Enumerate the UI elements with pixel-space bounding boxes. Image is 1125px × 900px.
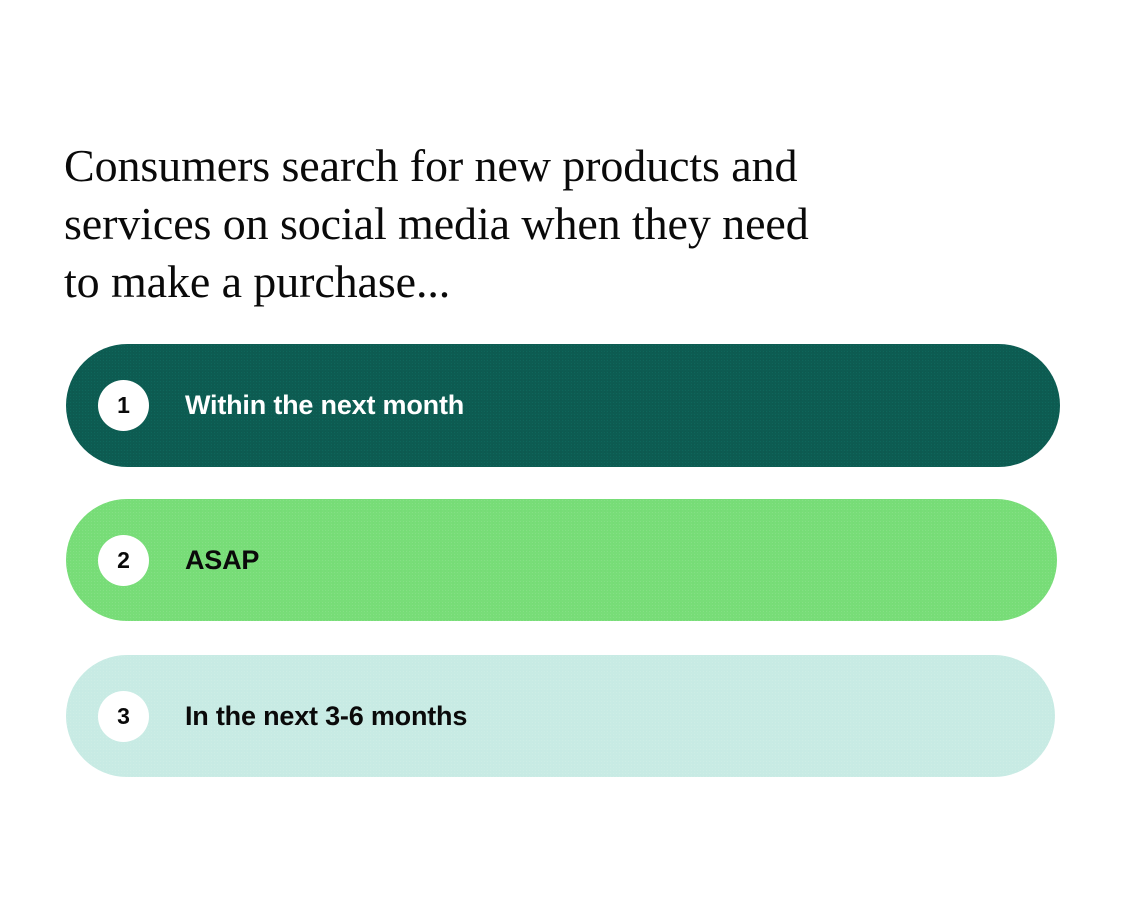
ranking-bar-list: 1 Within the next month 2 ASAP 3 In the … (0, 0, 1125, 900)
ranking-bar-label-2: ASAP (185, 545, 259, 576)
ranking-bar-label-3: In the next 3-6 months (185, 701, 467, 732)
ranking-card-page: Consumers search for new products and se… (0, 0, 1125, 900)
ranking-bar-1[interactable]: 1 Within the next month (66, 344, 1060, 467)
ranking-bar-label-1: Within the next month (185, 390, 464, 421)
rank-badge-3: 3 (98, 691, 149, 742)
rank-badge-1: 1 (98, 380, 149, 431)
ranking-bar-2[interactable]: 2 ASAP (66, 499, 1057, 621)
ranking-bar-3[interactable]: 3 In the next 3-6 months (66, 655, 1055, 777)
rank-badge-2: 2 (98, 535, 149, 586)
